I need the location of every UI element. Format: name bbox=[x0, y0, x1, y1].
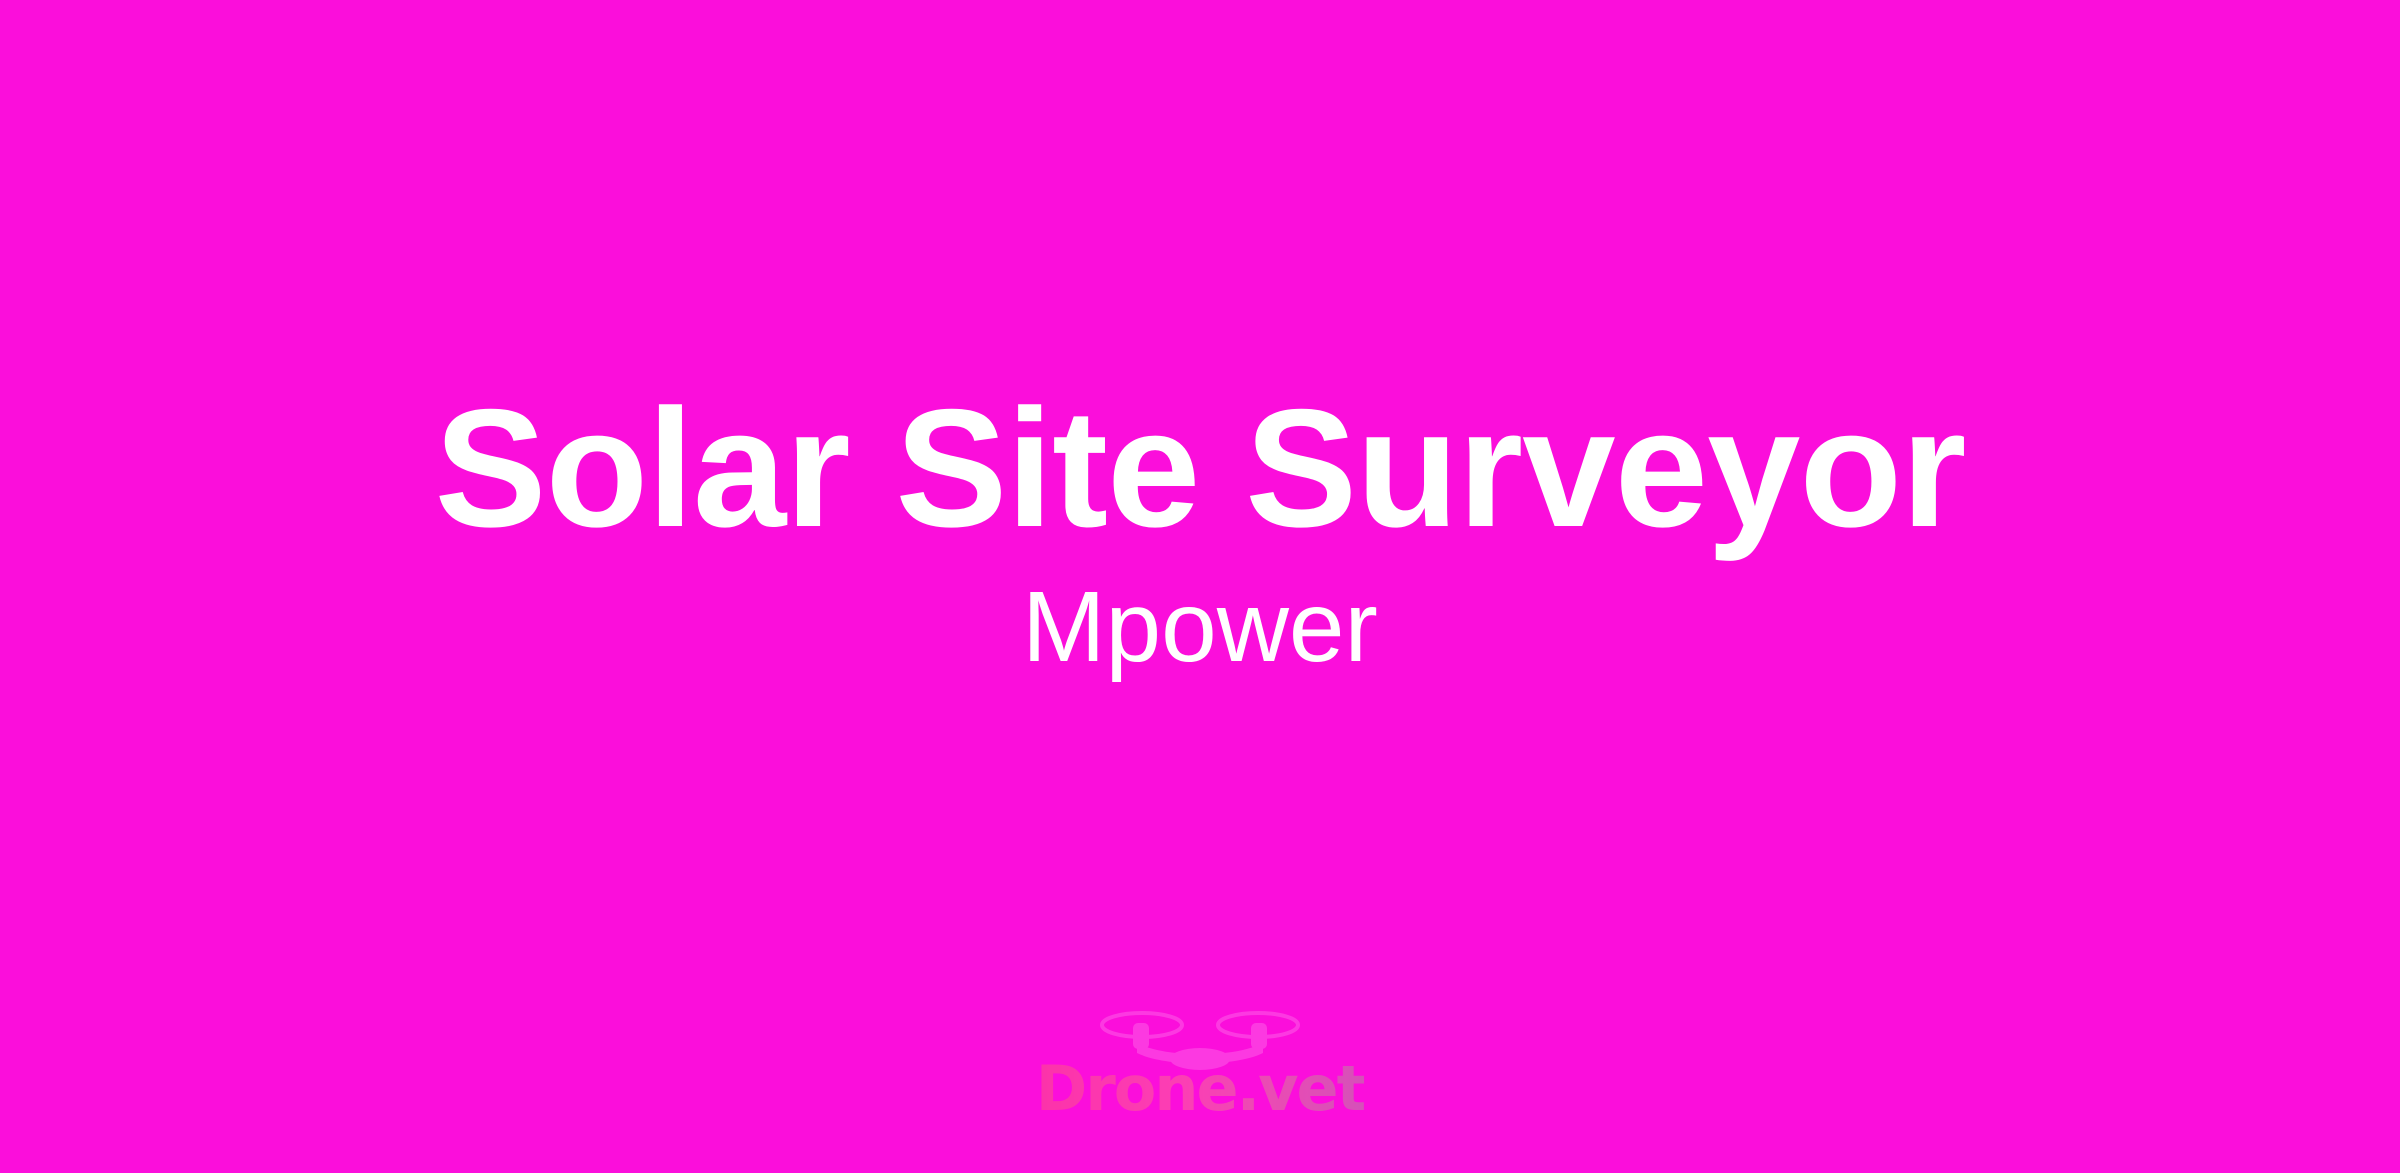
page-subtitle: Mpower bbox=[1022, 572, 1378, 682]
title-block: Solar Site Surveyor Mpower bbox=[0, 0, 2400, 1173]
title-slide: Solar Site Surveyor Mpower Drone.vet bbox=[0, 0, 2400, 1173]
page-title: Solar Site Surveyor bbox=[435, 383, 1966, 554]
